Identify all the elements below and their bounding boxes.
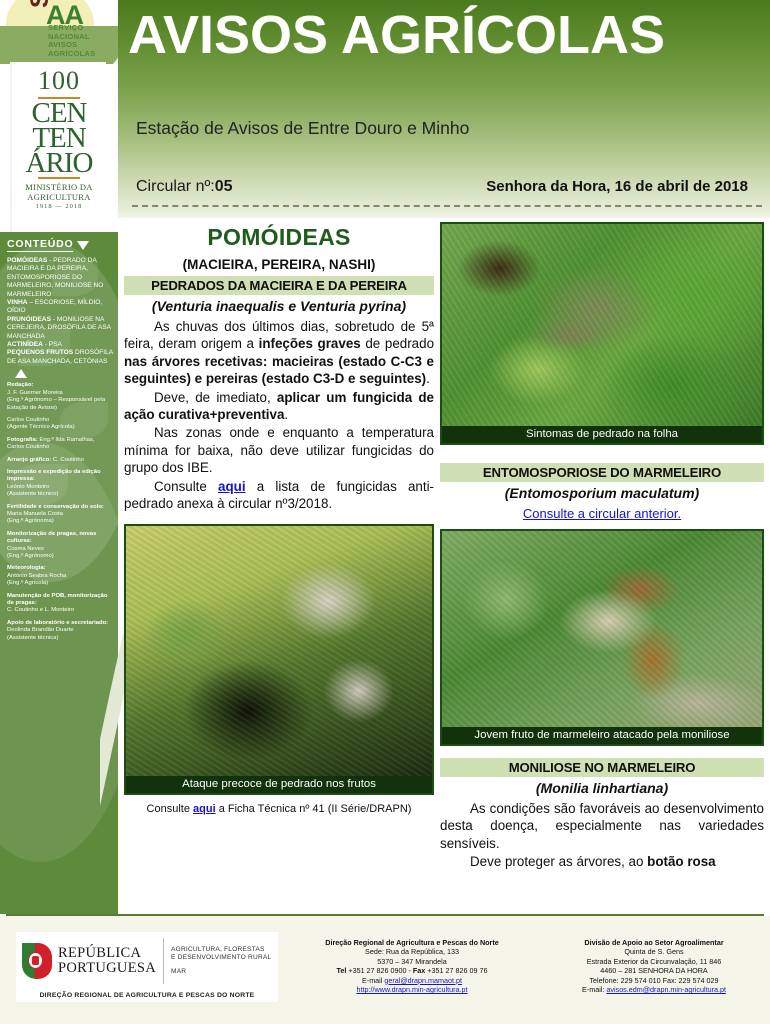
credit-line: (Eng.º Agrónomo) (7, 553, 113, 560)
photo-leaf-symptoms: Sintomas de pedrado na folha (440, 222, 764, 445)
text-fragment: a Ficha Técnica nº 41 (II Série/DRAPN) (216, 803, 412, 815)
centenario-logo: 100 CEN TEN ÁRIO MINISTÉRIO DAAGRICULTUR… (10, 62, 106, 232)
republica-portuguesa-logo: REPÚBLICAPORTUGUESA AGRICULTURA, FLOREST… (16, 932, 278, 990)
credit-title: Fertilidade e conservação do solo: (7, 504, 113, 511)
list-item[interactable]: POMÓIDEAS - PEDRADO DA MACIEIRA E DA PER… (7, 257, 113, 299)
ficha-tecnica-line: Consulte aqui a Ficha Técnica nº 41 (II … (124, 803, 434, 815)
credit-line: Cosma Neves (7, 546, 113, 553)
contact-address: Sede: Rua da República, 133 (286, 947, 538, 956)
sidebar-contents-header[interactable]: CONTEÚDO (7, 238, 113, 252)
text-fragment: . (284, 407, 288, 422)
page-footer: REPÚBLICAPORTUGUESA AGRICULTURA, FLOREST… (0, 916, 770, 1024)
tel-value: +351 27 826 0900 - (346, 966, 413, 975)
sidebar-green-panel: CONTEÚDO POMÓIDEAS - PEDRADO DA MACIEIRA… (0, 232, 118, 914)
credit-line: (Assistente técnico) (7, 491, 113, 498)
paragraph-fungicide: Deve, de imediato, aplicar um fungicida … (124, 389, 434, 424)
credit-title: Redação: (7, 382, 113, 389)
footer-contact-drapn: Direção Regional de Agricultura e Pescas… (286, 938, 538, 994)
ministry-mar: MAR (171, 968, 271, 976)
photo-fruit-attack: Ataque precoce de pedrado nos frutos (124, 524, 434, 795)
page-title: AVISOS AGRÍCOLAS (128, 4, 665, 66)
credit-group: Redação: J. F. Guerner Moreira (Eng.º Ag… (7, 382, 113, 431)
header-divider (132, 205, 762, 207)
section-heading-entomosporiose: ENTOMOSPORIOSE DO MARMELEIRO (440, 463, 764, 482)
circular-page: SN AA SERVIÇONACIONALAVISOSAGRÍCOLAS 100… (0, 0, 770, 1024)
division-email: E-mail: avisos.edm@drapn.min-agricultura… (540, 985, 768, 994)
ficha-aqui-link[interactable]: aqui (193, 803, 216, 815)
credit-group: Meteorologia: António Seabra Rocha (Eng.… (7, 565, 113, 587)
credit-line: (Agente Técnico Agrícola) (7, 424, 113, 431)
credit-title: Fotografia: (7, 437, 38, 443)
text-fragment: de pedrado (361, 336, 434, 351)
division-phone: Telefone: 229 574 010 Fax: 229 574 029 (540, 976, 768, 985)
list-item[interactable]: PEQUENOS FRUTOS DROSÓFILA DE ASA MANCHAD… (7, 349, 113, 366)
photo-caption: Sintomas de pedrado na folha (442, 426, 762, 443)
division-place: Quinta de S. Gens (540, 947, 768, 956)
text-bold: nas árvores recetivas: macieiras (estado… (124, 354, 434, 386)
credit-title: Monitorização de pragas, novas culturas: (7, 531, 113, 546)
section-scientific-name: (Monilia linhartiana) (440, 780, 764, 796)
credit-line: (Assistente técnica) (7, 635, 113, 642)
sidebar-contents-label: CONTEÚDO (7, 238, 73, 252)
list-item[interactable]: PRUNÓIDEAS - MONILIOSE NA CEREJEIRA, DRO… (7, 316, 113, 341)
division-name: Divisão de Apoio ao Setor Agroalimentar (540, 938, 768, 947)
sidebar-crop-name: PEQUENOS FRUTOS (7, 349, 73, 356)
list-item[interactable]: VINHA – ESCORIOSE, MÍLDIO, OÍDIO (7, 299, 113, 316)
credit-group: Fotografia: Eng.ª Ilda Ramalhas, Carlos … (7, 437, 113, 452)
portugal-shield-icon (22, 943, 52, 979)
credit-group: Arranjo gráfico: C. Coutinho (7, 457, 113, 464)
photo-caption: Ataque precoce de pedrado nos frutos (126, 776, 432, 793)
credit-title: Manutenção de POB, monitorização de prag… (7, 593, 113, 608)
section-scientific-name: (Venturia inaequalis e Venturia pyrina) (124, 298, 434, 314)
email-label: E-mail: (582, 985, 606, 994)
contact-postal: 5370 – 347 Mirandela (286, 957, 538, 966)
text-fragment: . (426, 371, 430, 386)
fax-label: Fax (413, 966, 425, 975)
credit-line: C. Coutinho (51, 457, 84, 463)
tel-label: Tel (337, 966, 347, 975)
credit-line: C. Coutinho e L. Monteiro (7, 607, 113, 614)
photo-image (442, 531, 762, 727)
left-column: POMÓIDEAS (MACIEIRA, PEREIRA, NASHI) PED… (118, 218, 440, 914)
centenario-100: 100 (12, 66, 106, 96)
credit-line: J. F. Guerner Moreira (7, 390, 113, 397)
text-bold: infeções graves (259, 336, 361, 351)
credit-group: Apoio de laboratório e secretariado: Deo… (7, 620, 113, 642)
paragraph-conditions: As condições são favoráveis ao desenvolv… (440, 800, 764, 852)
circular-label: Circular nº: (136, 178, 215, 195)
sidebar-contents-list: POMÓIDEAS - PEDRADO DA MACIEIRA E DA PER… (7, 257, 113, 366)
text-fragment: Deve, de imediato, (154, 390, 277, 405)
sidebar-crop-text: - PSA (43, 341, 62, 348)
circular-number-block: Circular nº:05 (136, 178, 233, 196)
ministry-lines: AGRICULTURA, FLORESTASE DESENVOLVIMENTO … (171, 946, 271, 962)
centenario-years: 1918 — 2018 (12, 203, 106, 210)
ministry-block: AGRICULTURA, FLORESTASE DESENVOLVIMENTO … (171, 946, 271, 977)
centenario-ministry: MINISTÉRIO DAAGRICULTURA (12, 182, 106, 202)
republica-portuguesa-text: REPÚBLICAPORTUGUESA (58, 946, 156, 976)
snaa-logo: SN AA SERVIÇONACIONALAVISOSAGRÍCOLAS (0, 0, 118, 64)
credit-line: Leónio Monteiro (7, 484, 113, 491)
previous-circular-line: Consulte a circular anterior. (440, 505, 764, 523)
header-subtitle: Estação de Avisos de Entre Douro e Minho (136, 118, 469, 139)
snaa-words-text: SERVIÇONACIONALAVISOSAGRÍCOLAS (48, 24, 95, 58)
aqui-link[interactable]: aqui (218, 479, 246, 494)
place-date: Senhora da Hora, 16 de abril de 2018 (486, 178, 748, 195)
photo-image (442, 224, 762, 426)
text-fragment: Consulte (154, 479, 218, 494)
credit-group: Impressão e expedição da edição impressa… (7, 469, 113, 499)
email-label: E-mail (362, 976, 384, 985)
paragraph-consulte: Consulte aqui a lista de fungicidas anti… (124, 478, 434, 513)
contact-email: E-mail geral@drapn.mamaot.pt (286, 976, 538, 985)
page-header: AVISOS AGRÍCOLAS Estação de Avisos de En… (118, 0, 770, 218)
chevron-down-icon[interactable] (77, 241, 89, 250)
contact-org: Direção Regional de Agricultura e Pescas… (286, 938, 538, 947)
sidebar: SN AA SERVIÇONACIONALAVISOSAGRÍCOLAS 100… (0, 0, 118, 914)
credit-line: Carlos Coutinho (7, 417, 113, 424)
paragraph-ibe: Nas zonas onde e enquanto a temperatura … (124, 424, 434, 476)
text-fragment: Deve proteger as árvores, ao (470, 854, 647, 869)
text-bold: botão rosa (647, 854, 715, 869)
logo-divider (163, 938, 164, 984)
photo-caption: Jovem fruto de marmeleiro atacado pela m… (442, 727, 762, 744)
credit-line: (Eng.º Agrícola) (7, 580, 113, 587)
crop-title: POMÓIDEAS (124, 224, 434, 251)
fax-value: +351 27 826 09 76 (425, 966, 487, 975)
drapn-label: DIREÇÃO REGIONAL DE AGRICULTURA E PESCAS… (16, 990, 278, 1002)
previous-circular-link[interactable]: Consulte a circular anterior. (523, 506, 681, 521)
crop-subtitle: (MACIEIRA, PEREIRA, NASHI) (124, 257, 434, 272)
email-link[interactable]: geral@drapn.mamaot.pt (384, 976, 462, 985)
credit-line: (Eng.ª Agrónoma) (7, 518, 113, 525)
paragraph-protect: Deve proteger as árvores, ao botão rosa (440, 853, 764, 870)
credit-line: (Eng.º Agrónomo – Responsável pela Estaç… (7, 397, 113, 412)
photo-image (126, 526, 432, 776)
credit-title: Impressão e expedição da edição impressa… (7, 469, 113, 484)
credit-group: Fertilidade e conservação do solo: Maria… (7, 504, 113, 526)
sidebar-crop-name: VINHA (7, 299, 28, 306)
footer-contact-divisao: Divisão de Apoio ao Setor Agroalimentar … (540, 938, 768, 994)
contact-website: http://www.drapn.min-agricultura.pt (286, 985, 538, 994)
sidebar-crop-name: PRUNÓIDEAS (7, 316, 51, 323)
sidebar-crop-name: POMÓIDEAS (7, 257, 47, 264)
circular-number: 05 (215, 178, 233, 195)
credit-title: Apoio de laboratório e secretariado: (7, 620, 113, 627)
email-link[interactable]: avisos.edm@drapn.min-agricultura.pt (606, 985, 726, 994)
contact-phone: Tel +351 27 826 0900 - Fax +351 27 826 0… (286, 966, 538, 975)
credit-line: Deolinda Brandão Duarte (7, 627, 113, 634)
right-column: Sintomas de pedrado na folha ENTOMOSPORI… (440, 218, 770, 914)
section-scientific-name: (Entomosporium maculatum) (440, 485, 764, 501)
section-heading-moniliose: MONILIOSE NO MARMELEIRO (440, 758, 764, 777)
division-address: Estrada Exterior da Circunvalação, 11 84… (540, 957, 768, 966)
credit-title: Meteorologia: (7, 565, 113, 572)
website-link[interactable]: http://www.drapn.min-agricultura.pt (356, 985, 467, 994)
text-fragment: Consulte (147, 803, 193, 815)
sidebar-credits: Redação: J. F. Guerner Moreira (Eng.º Ag… (7, 382, 113, 642)
credit-title: Arranjo gráfico: (7, 457, 51, 463)
photo-quince-moniliose: Jovem fruto de marmeleiro atacado pela m… (440, 529, 764, 746)
centenario-line-3: ÁRIO (12, 151, 106, 176)
credit-group: Manutenção de POB, monitorização de prag… (7, 593, 113, 615)
section-heading-pedrados: PEDRADOS DA MACIEIRA E DA PEREIRA (124, 276, 434, 295)
division-postal: 4460 – 281 SENHORA DA HORA (540, 966, 768, 975)
credit-group: Monitorização de pragas, novas culturas:… (7, 531, 113, 561)
sidebar-crop-name: ACTINÍDEA (7, 341, 43, 348)
paragraph-infections: As chuvas dos últimos dias, sobretudo de… (124, 318, 434, 388)
chevron-up-icon[interactable] (15, 369, 27, 378)
